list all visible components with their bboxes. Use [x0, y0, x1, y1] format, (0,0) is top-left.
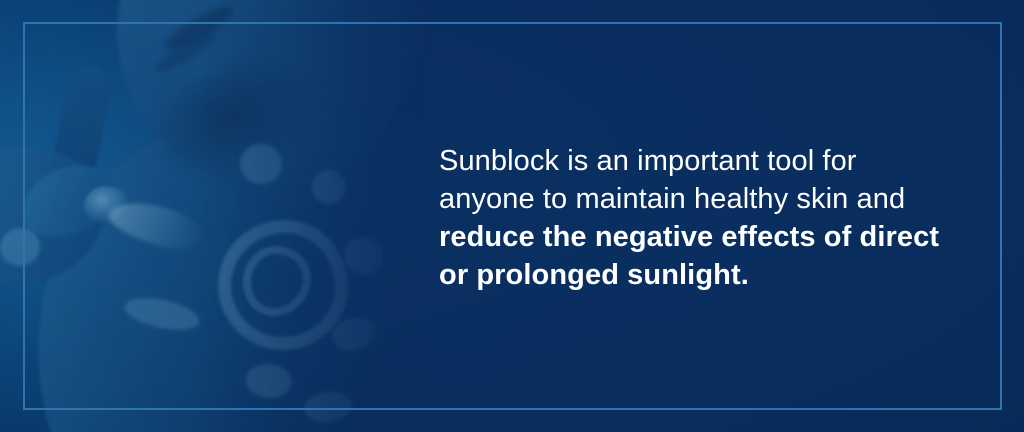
- message-text-block: Sunblock is an important tool for anyone…: [439, 142, 979, 294]
- message-line-1: Sunblock is an important tool for: [439, 142, 979, 180]
- message-line-2: anyone to maintain healthy skin and: [439, 180, 979, 218]
- sunblock-banner: Sunblock is an important tool for anyone…: [0, 0, 1024, 432]
- message-line-3: reduce the negative effects of direct: [439, 218, 979, 256]
- photo-fade-overlay: [0, 0, 440, 432]
- banner-photo: [0, 0, 440, 432]
- message-line-4: or prolonged sunlight.: [439, 256, 979, 294]
